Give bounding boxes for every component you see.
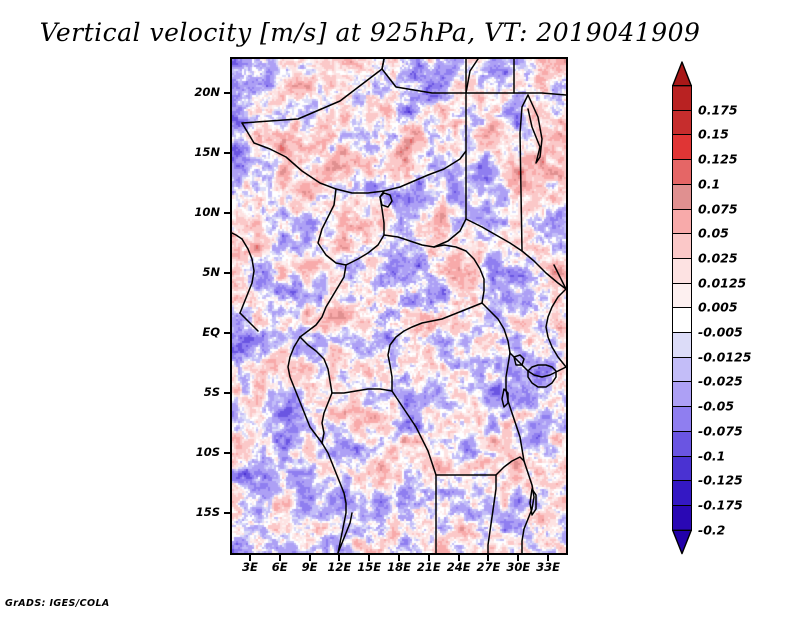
lake-victoria [528,365,556,387]
x-axis-tick-label: 15E [357,560,381,574]
border-segment [232,233,242,239]
border-segment [384,235,434,247]
colorbar-band [672,480,692,506]
x-axis-tick-mark [249,555,251,561]
y-axis-tick-label: EQ [0,325,220,339]
lake-chad [380,193,392,207]
border-segment [506,353,524,461]
colorbar-tick-label: -0.2 [698,522,725,537]
x-axis-tick-label: 21E [417,560,441,574]
colorbar-band [672,381,692,407]
colorbar-tick-label: -0.075 [698,423,743,438]
border-segment [318,189,346,265]
y-axis-tick-mark [224,452,230,454]
border-segment [482,303,510,353]
x-axis-tick-mark [338,555,340,561]
x-axis-tick-mark [428,555,430,561]
y-axis-tick-label: 10S [0,445,220,459]
border-segment [240,313,258,331]
y-axis-tick-mark [224,272,230,274]
x-axis-tick-mark [279,555,281,561]
border-segment [520,95,528,251]
colorbar-tick-label: 0.15 [698,127,729,142]
border-segment [466,93,566,95]
x-axis-tick-mark [309,555,311,561]
colorbar-band [672,134,692,160]
border-segment [346,191,384,265]
colorbar-band [672,283,692,309]
x-axis-tick-label: 6E [272,560,288,574]
y-axis-tick-label: 15N [0,145,220,159]
colorbar-tick-label: -0.005 [698,325,743,340]
border-segment [242,93,466,193]
x-axis-tick-mark [487,555,489,561]
border-segment [496,457,524,475]
x-axis-tick-label: 12E [327,560,351,574]
border-segment [300,265,346,337]
x-axis-tick-label: 27E [477,560,501,574]
country-borders-overlay [232,59,566,553]
x-axis-tick-label: 30E [506,560,530,574]
border-segment [322,443,346,553]
border-segment [546,289,566,367]
y-axis-tick-label: 20N [0,85,220,99]
y-axis-tick-mark [224,332,230,334]
border-segment [388,303,482,391]
colorbar-band [672,159,692,185]
colorbar-tick-label: 0.1 [698,176,720,191]
x-axis-tick-mark [368,555,370,561]
x-axis-tick-label: 3E [242,560,258,574]
border-segment [322,393,332,443]
colorbar-bottom-arrow [673,530,692,553]
y-axis-tick-mark [224,92,230,94]
y-axis-tick-label: 15S [0,505,220,519]
y-axis-tick-mark [224,512,230,514]
colorbar-band [672,184,692,210]
border-segment [488,475,496,553]
colorbar: 0.1750.150.1250.10.0750.050.0250.01250.0… [670,60,800,560]
page-title: Vertical velocity [m/s] at 925hPa, VT: 2… [0,18,740,47]
y-axis-tick-label: 10N [0,205,220,219]
colorbar-band [672,233,692,259]
x-axis-tick-label: 33E [536,560,560,574]
y-axis-tick-label: 5S [0,385,220,399]
border-segment [382,59,466,93]
border-segment [240,239,254,313]
y-axis-tick-label: 5N [0,265,220,279]
border-segment [392,391,436,475]
colorbar-tick-label: -0.125 [698,473,743,488]
border-segment [434,245,484,303]
border-segment [242,59,384,123]
border-segment [522,461,534,553]
x-axis-tick-label: 24E [447,560,471,574]
y-axis-tick-mark [224,392,230,394]
border-segment [332,389,392,393]
colorbar-tick-label: 0.175 [698,102,738,117]
colorbar-band [672,357,692,383]
colorbar-tick-label: -0.05 [698,399,734,414]
border-segment [300,337,332,393]
x-axis-tick-mark [398,555,400,561]
x-axis-tick-label: 9E [302,560,318,574]
border-segment [528,95,542,163]
colorbar-tick-label: -0.0125 [698,349,751,364]
colorbar-tick-label: 0.125 [698,152,738,167]
border-segment [466,59,478,93]
colorbar-band [672,307,692,333]
colorbar-tick-label: -0.175 [698,497,743,512]
y-axis-tick-mark [224,212,230,214]
map-plot-area [230,57,568,555]
footer-credit: GrADS: IGES/COLA [5,598,110,609]
colorbar-top-arrow [673,62,692,86]
colorbar-tick-label: -0.1 [698,448,725,463]
colorbar-band [672,431,692,457]
colorbar-tick-label: 0.075 [698,201,738,216]
colorbar-tick-label: 0.05 [698,226,729,241]
colorbar-tick-label: -0.025 [698,374,743,389]
x-axis-tick-mark [517,555,519,561]
x-axis-tick-mark [458,555,460,561]
colorbar-band [672,456,692,482]
colorbar-band [672,505,692,531]
colorbar-tick-label: 0.025 [698,250,738,265]
colorbar-tick-label: 0.005 [698,300,738,315]
colorbar-band [672,258,692,284]
colorbar-band [672,332,692,358]
x-axis-tick-mark [547,555,549,561]
y-axis-tick-mark [224,152,230,154]
colorbar-band [672,85,692,111]
lake-small [514,355,524,365]
border-segment [466,219,566,289]
colorbar-band [672,209,692,235]
colorbar-tick-label: 0.0125 [698,275,746,290]
colorbar-band [672,110,692,136]
colorbar-band [672,406,692,432]
x-axis-tick-label: 18E [387,560,411,574]
